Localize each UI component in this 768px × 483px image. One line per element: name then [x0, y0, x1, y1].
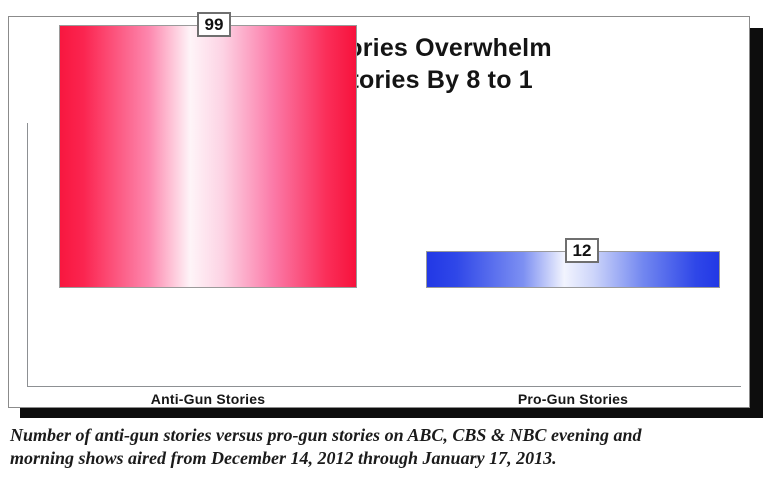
bar-anti-gun-stories	[59, 25, 357, 288]
chart-frame: Anti-Gun Stories Overwhelm Pro-Gun Stori…	[8, 16, 750, 408]
chart-caption-line-1: Number of anti-gun stories versus pro-gu…	[10, 424, 750, 447]
category-label-anti-gun-stories: Anti-Gun Stories	[59, 391, 357, 407]
value-label-anti-gun-stories: 99	[197, 12, 231, 37]
chart-screenshot: Anti-Gun Stories Overwhelm Pro-Gun Stori…	[0, 0, 768, 483]
y-axis-line	[27, 123, 28, 387]
frame-shadow-right	[750, 28, 763, 418]
chart-caption-line-2: morning shows aired from December 14, 20…	[10, 447, 750, 470]
plot-area: 99 12 Anti-Gun Stories Pro-Gun Stories	[19, 123, 739, 407]
value-label-pro-gun-stories: 12	[565, 238, 599, 263]
chart-caption: Number of anti-gun stories versus pro-gu…	[10, 424, 750, 470]
category-label-pro-gun-stories: Pro-Gun Stories	[426, 391, 720, 407]
x-axis-line	[27, 386, 741, 387]
